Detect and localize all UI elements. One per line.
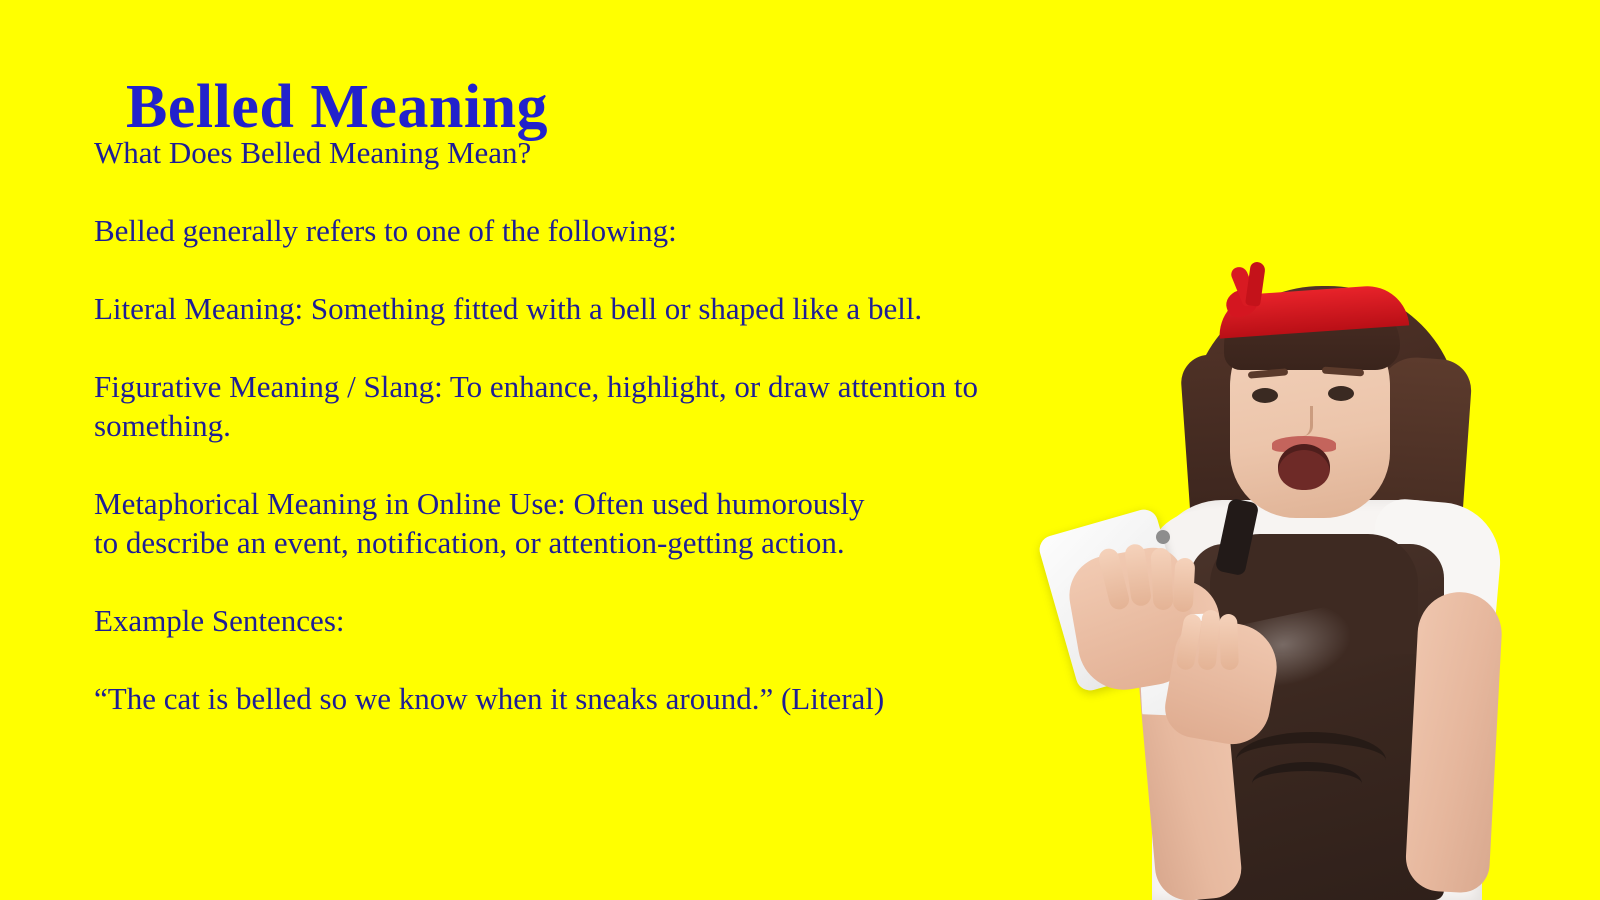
paragraph-metaphorical-meaning: Metaphorical Meaning in Online Use: Ofte… [94, 484, 884, 562]
nose [1292, 406, 1313, 436]
arm-right [1404, 590, 1504, 894]
surprised-woman-photo [1040, 262, 1510, 900]
open-mouth [1278, 444, 1330, 490]
page-title: Belled Meaning [126, 76, 548, 138]
slide-canvas: Belled Meaning What Does Belled Meaning … [0, 0, 1600, 900]
eye-right [1328, 386, 1354, 401]
body-copy: What Does Belled Meaning Mean? Belled ge… [94, 133, 1054, 718]
finger [1150, 548, 1173, 611]
paragraph-figurative-meaning: Figurative Meaning / Slang: To enhance, … [94, 367, 1009, 445]
apron-tie-strap-2 [1252, 762, 1362, 841]
paragraph-example-heading: Example Sentences: [94, 601, 1044, 640]
paragraph-literal-meaning: Literal Meaning: Something fitted with a… [94, 289, 1039, 328]
paragraph-example-sentence: “The cat is belled so we know when it sn… [94, 679, 954, 718]
finger [1219, 614, 1239, 671]
paragraph-intro: Belled generally refers to one of the fo… [94, 211, 1044, 250]
finger [1173, 558, 1196, 613]
paragraph-question: What Does Belled Meaning Mean? [94, 133, 1044, 172]
eye-left [1252, 388, 1278, 403]
